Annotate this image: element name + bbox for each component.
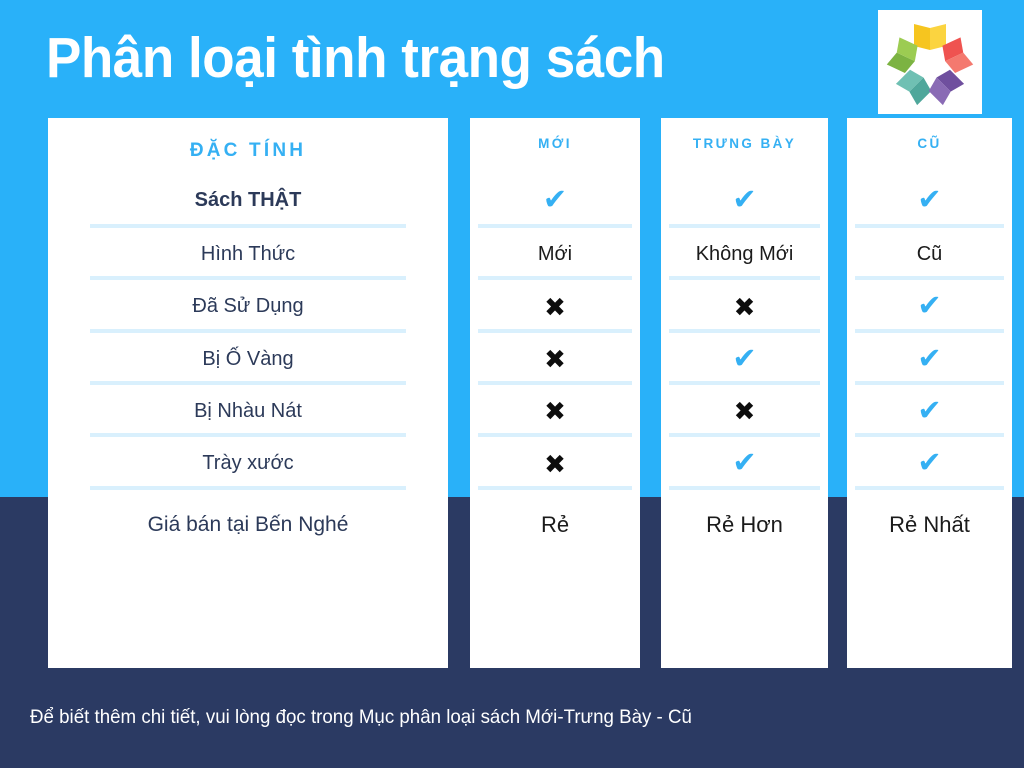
cross-icon: ✖ (544, 451, 566, 477)
books-circle-logo-icon (878, 10, 982, 114)
data-cell: ✖ (661, 280, 828, 333)
feature-price-label: Giá bán tại Bến Nghé (148, 513, 349, 537)
cross-icon: ✖ (734, 294, 756, 320)
data-cell: ✖ (470, 385, 640, 437)
column-card-cu: CŨ ✔Cũ✔✔✔✔ Rẻ Nhất (847, 118, 1012, 668)
page-title: Phân loại tình trạng sách (46, 22, 790, 94)
feature-row-label: Bị Ố Vàng (202, 348, 293, 371)
price-row-moi: Rẻ (470, 490, 640, 560)
data-cell: ✔ (661, 333, 828, 385)
data-cell: ✔ (847, 280, 1012, 333)
cross-icon: ✖ (544, 398, 566, 424)
feature-price-row: Giá bán tại Bến Nghé (48, 490, 448, 560)
cell-list-trungbay: ✔Không Mới✖✔✖✔ (661, 118, 828, 490)
check-icon: ✔ (917, 397, 941, 426)
check-icon: ✔ (917, 449, 941, 478)
check-icon: ✔ (917, 345, 941, 374)
data-cell: ✖ (470, 333, 640, 385)
price-label-trungbay: Rẻ Hơn (706, 512, 783, 538)
cell-list-moi: ✔Mới✖✖✖✖ (470, 118, 640, 490)
cell-list-cu: ✔Cũ✔✔✔✔ (847, 118, 1012, 490)
data-cell: ✔ (847, 172, 1012, 228)
feature-row-label: Trày xước (202, 452, 293, 475)
price-row-cu: Rẻ Nhất (847, 490, 1012, 560)
data-cell: ✔ (661, 172, 828, 228)
data-cell: ✖ (470, 280, 640, 333)
price-label-moi: Rẻ (541, 512, 569, 538)
price-row-trungbay: Rẻ Hơn (661, 490, 828, 560)
footer-note: Để biết thêm chi tiết, vui lòng đọc tron… (30, 704, 692, 730)
data-cell: ✔ (847, 333, 1012, 385)
feature-row-label: Đã Sử Dụng (192, 295, 303, 318)
cross-icon: ✖ (544, 294, 566, 320)
feature-row: Bị Ố Vàng (48, 333, 448, 385)
feature-row: Hình Thức (48, 228, 448, 280)
check-icon: ✔ (917, 186, 941, 215)
cross-icon: ✖ (544, 346, 566, 372)
data-cell: ✖ (470, 437, 640, 490)
slide-canvas: Phân loại tình trạng sách (0, 0, 1024, 768)
data-cell: ✔ (470, 172, 640, 228)
data-cell: Cũ (847, 228, 1012, 280)
data-cell: ✔ (661, 437, 828, 490)
data-cell: ✔ (847, 385, 1012, 437)
column-card-trungbay: TRƯNG BÀY ✔Không Mới✖✔✖✔ Rẻ Hơn (661, 118, 828, 668)
feature-row-label: Sách THẬT (195, 189, 302, 212)
feature-row-label: Bị Nhàu Nát (194, 400, 302, 423)
cross-icon: ✖ (734, 398, 756, 424)
feature-row: Đã Sử Dụng (48, 280, 448, 333)
check-icon: ✔ (543, 186, 567, 215)
feature-row-list: Sách THẬTHình ThứcĐã Sử DụngBị Ố VàngBị … (48, 118, 448, 490)
feature-column-card: ĐẶC TÍNH Sách THẬTHình ThứcĐã Sử DụngBị … (48, 118, 448, 668)
cell-text: Không Mới (696, 243, 794, 266)
cell-text: Cũ (917, 243, 943, 266)
feature-row: Sách THẬT (48, 172, 448, 228)
column-card-moi: MỚI ✔Mới✖✖✖✖ Rẻ (470, 118, 640, 668)
check-icon: ✔ (732, 449, 756, 478)
data-cell: Không Mới (661, 228, 828, 280)
feature-row: Trày xước (48, 437, 448, 490)
check-icon: ✔ (732, 345, 756, 374)
cell-text: Mới (538, 243, 572, 266)
feature-row-label: Hình Thức (201, 243, 295, 266)
data-cell: ✔ (847, 437, 1012, 490)
check-icon: ✔ (917, 292, 941, 321)
logo-card (878, 10, 982, 114)
data-cell: ✖ (661, 385, 828, 437)
price-label-cu: Rẻ Nhất (889, 512, 970, 538)
check-icon: ✔ (732, 186, 756, 215)
feature-row: Bị Nhàu Nát (48, 385, 448, 437)
data-cell: Mới (470, 228, 640, 280)
